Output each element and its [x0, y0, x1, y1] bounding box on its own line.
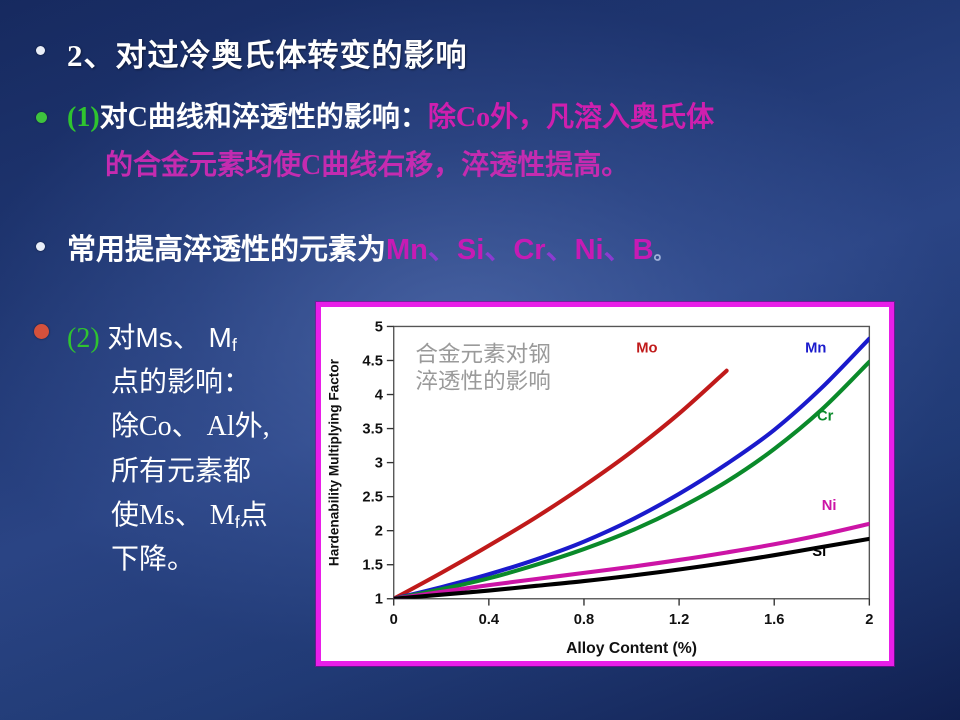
slide-canvas: 2、对过冷奥氏体转变的影响 (1)对C曲线和淬透性的影响：除Co外，凡溶入奥氏体…	[0, 0, 960, 720]
paragraph-3-line-3: 除Co、 Al外,	[111, 405, 270, 449]
paragraph-3-line-6: 下降。	[111, 538, 270, 582]
y-tick-label: 3	[375, 456, 383, 472]
paragraph-3-line-1: (2) 对Ms、 Mf	[67, 316, 270, 361]
element-mn: Mn	[386, 234, 428, 266]
paragraph-3: (2) 对Ms、 Mf 点的影响： 除Co、 Al外, 所有元素都 使Ms、 M…	[67, 316, 270, 582]
chart-annotation-line-2: 淬透性的影响	[415, 369, 551, 394]
bullet-dot-icon	[36, 46, 45, 55]
bullet-dot-icon	[36, 242, 45, 251]
element-si: Si	[457, 234, 484, 266]
x-axis-label: Alloy Content (%)	[566, 640, 697, 657]
element-ni: Ni	[575, 234, 604, 266]
paragraph-3-line-2: 点的影响：	[111, 361, 270, 405]
x-tick-label: 1.6	[764, 612, 784, 628]
separator: 、	[604, 234, 633, 266]
x-tick-label: 0.8	[574, 612, 594, 628]
paragraph-1-magenta-line2: 的合金元素均使C曲线右移，淬透性提高。	[105, 148, 714, 184]
element-b: B	[633, 234, 654, 266]
y-tick-label: 1.5	[362, 558, 382, 574]
chart-annotation-line-1: 合金元素对钢	[415, 342, 551, 367]
paragraph-1-white: 对C曲线和淬透性的影响：	[100, 102, 428, 133]
x-tick-label: 0	[390, 612, 398, 628]
paragraph-2: 常用提高淬透性的元素为Mn、Si、Cr、Ni、B。	[67, 232, 674, 269]
bullet-row-2: (1)对C曲线和淬透性的影响：除Co外，凡溶入奥氏体 的合金元素均使C曲线右移，…	[36, 100, 952, 184]
p3-l5-tail: 点	[240, 500, 268, 531]
y-tick-label: 1	[375, 592, 383, 608]
p3-l5-text: 使Ms、 M	[111, 500, 235, 531]
separator: 、	[546, 234, 575, 266]
bullet-row-4: (2) 对Ms、 Mf 点的影响： 除Co、 Al外, 所有元素都 使Ms、 M…	[34, 316, 334, 582]
paragraph-1-magenta: 除Co外，凡溶入奥氏体	[428, 102, 714, 133]
period-mark: 。	[654, 242, 674, 264]
element-cr: Cr	[513, 234, 545, 266]
item-number-1: (1)	[67, 102, 100, 133]
series-label-mn: Mn	[805, 340, 826, 356]
paragraph-3-line-4: 所有元素都	[111, 450, 270, 494]
bullet-dot-green-icon	[36, 112, 47, 123]
separator: 、	[428, 234, 457, 266]
series-label-mo: Mo	[636, 340, 657, 356]
p3-l1-text: 对Ms、 M	[100, 322, 232, 353]
paragraph-3-line-5: 使Ms、 Mf点	[111, 494, 270, 538]
y-tick-label: 3.5	[362, 421, 382, 437]
y-tick-label: 2.5	[362, 490, 382, 506]
x-tick-label: 2	[865, 612, 873, 628]
chart-panel: 11.522.533.544.55 00.40.81.21.62 MoMnCrN…	[316, 302, 894, 666]
bullet-row-1: 2、对过冷奥氏体转变的影响	[36, 36, 468, 76]
paragraph-1: (1)对C曲线和淬透性的影响：除Co外，凡溶入奥氏体 的合金元素均使C曲线右移，…	[67, 100, 714, 184]
y-tick-label: 2	[375, 524, 383, 540]
series-label-cr: Cr	[817, 408, 834, 424]
chart-background	[321, 307, 889, 661]
item-number-2: (2)	[67, 323, 100, 354]
x-tick-label: 1.2	[669, 612, 689, 628]
separator: 、	[484, 234, 513, 266]
y-tick-label: 5	[375, 319, 383, 335]
heading-text: 2、对过冷奥氏体转变的影响	[67, 36, 468, 76]
hardenability-chart: 11.522.533.544.55 00.40.81.21.62 MoMnCrN…	[321, 307, 889, 661]
bullet-dot-red-icon	[34, 324, 49, 339]
x-tick-label: 0.4	[479, 612, 500, 628]
y-axis-label: Hardenability Multiplying Factor	[327, 358, 342, 566]
y-tick-label: 4	[375, 387, 384, 403]
series-label-si: Si	[812, 544, 826, 560]
bullet-row-3: 常用提高淬透性的元素为Mn、Si、Cr、Ni、B。	[36, 232, 674, 269]
series-label-ni: Ni	[822, 498, 837, 514]
subscript-f: f	[232, 335, 237, 355]
paragraph-2-white: 常用提高淬透性的元素为	[67, 234, 386, 266]
y-tick-label: 4.5	[362, 353, 382, 369]
